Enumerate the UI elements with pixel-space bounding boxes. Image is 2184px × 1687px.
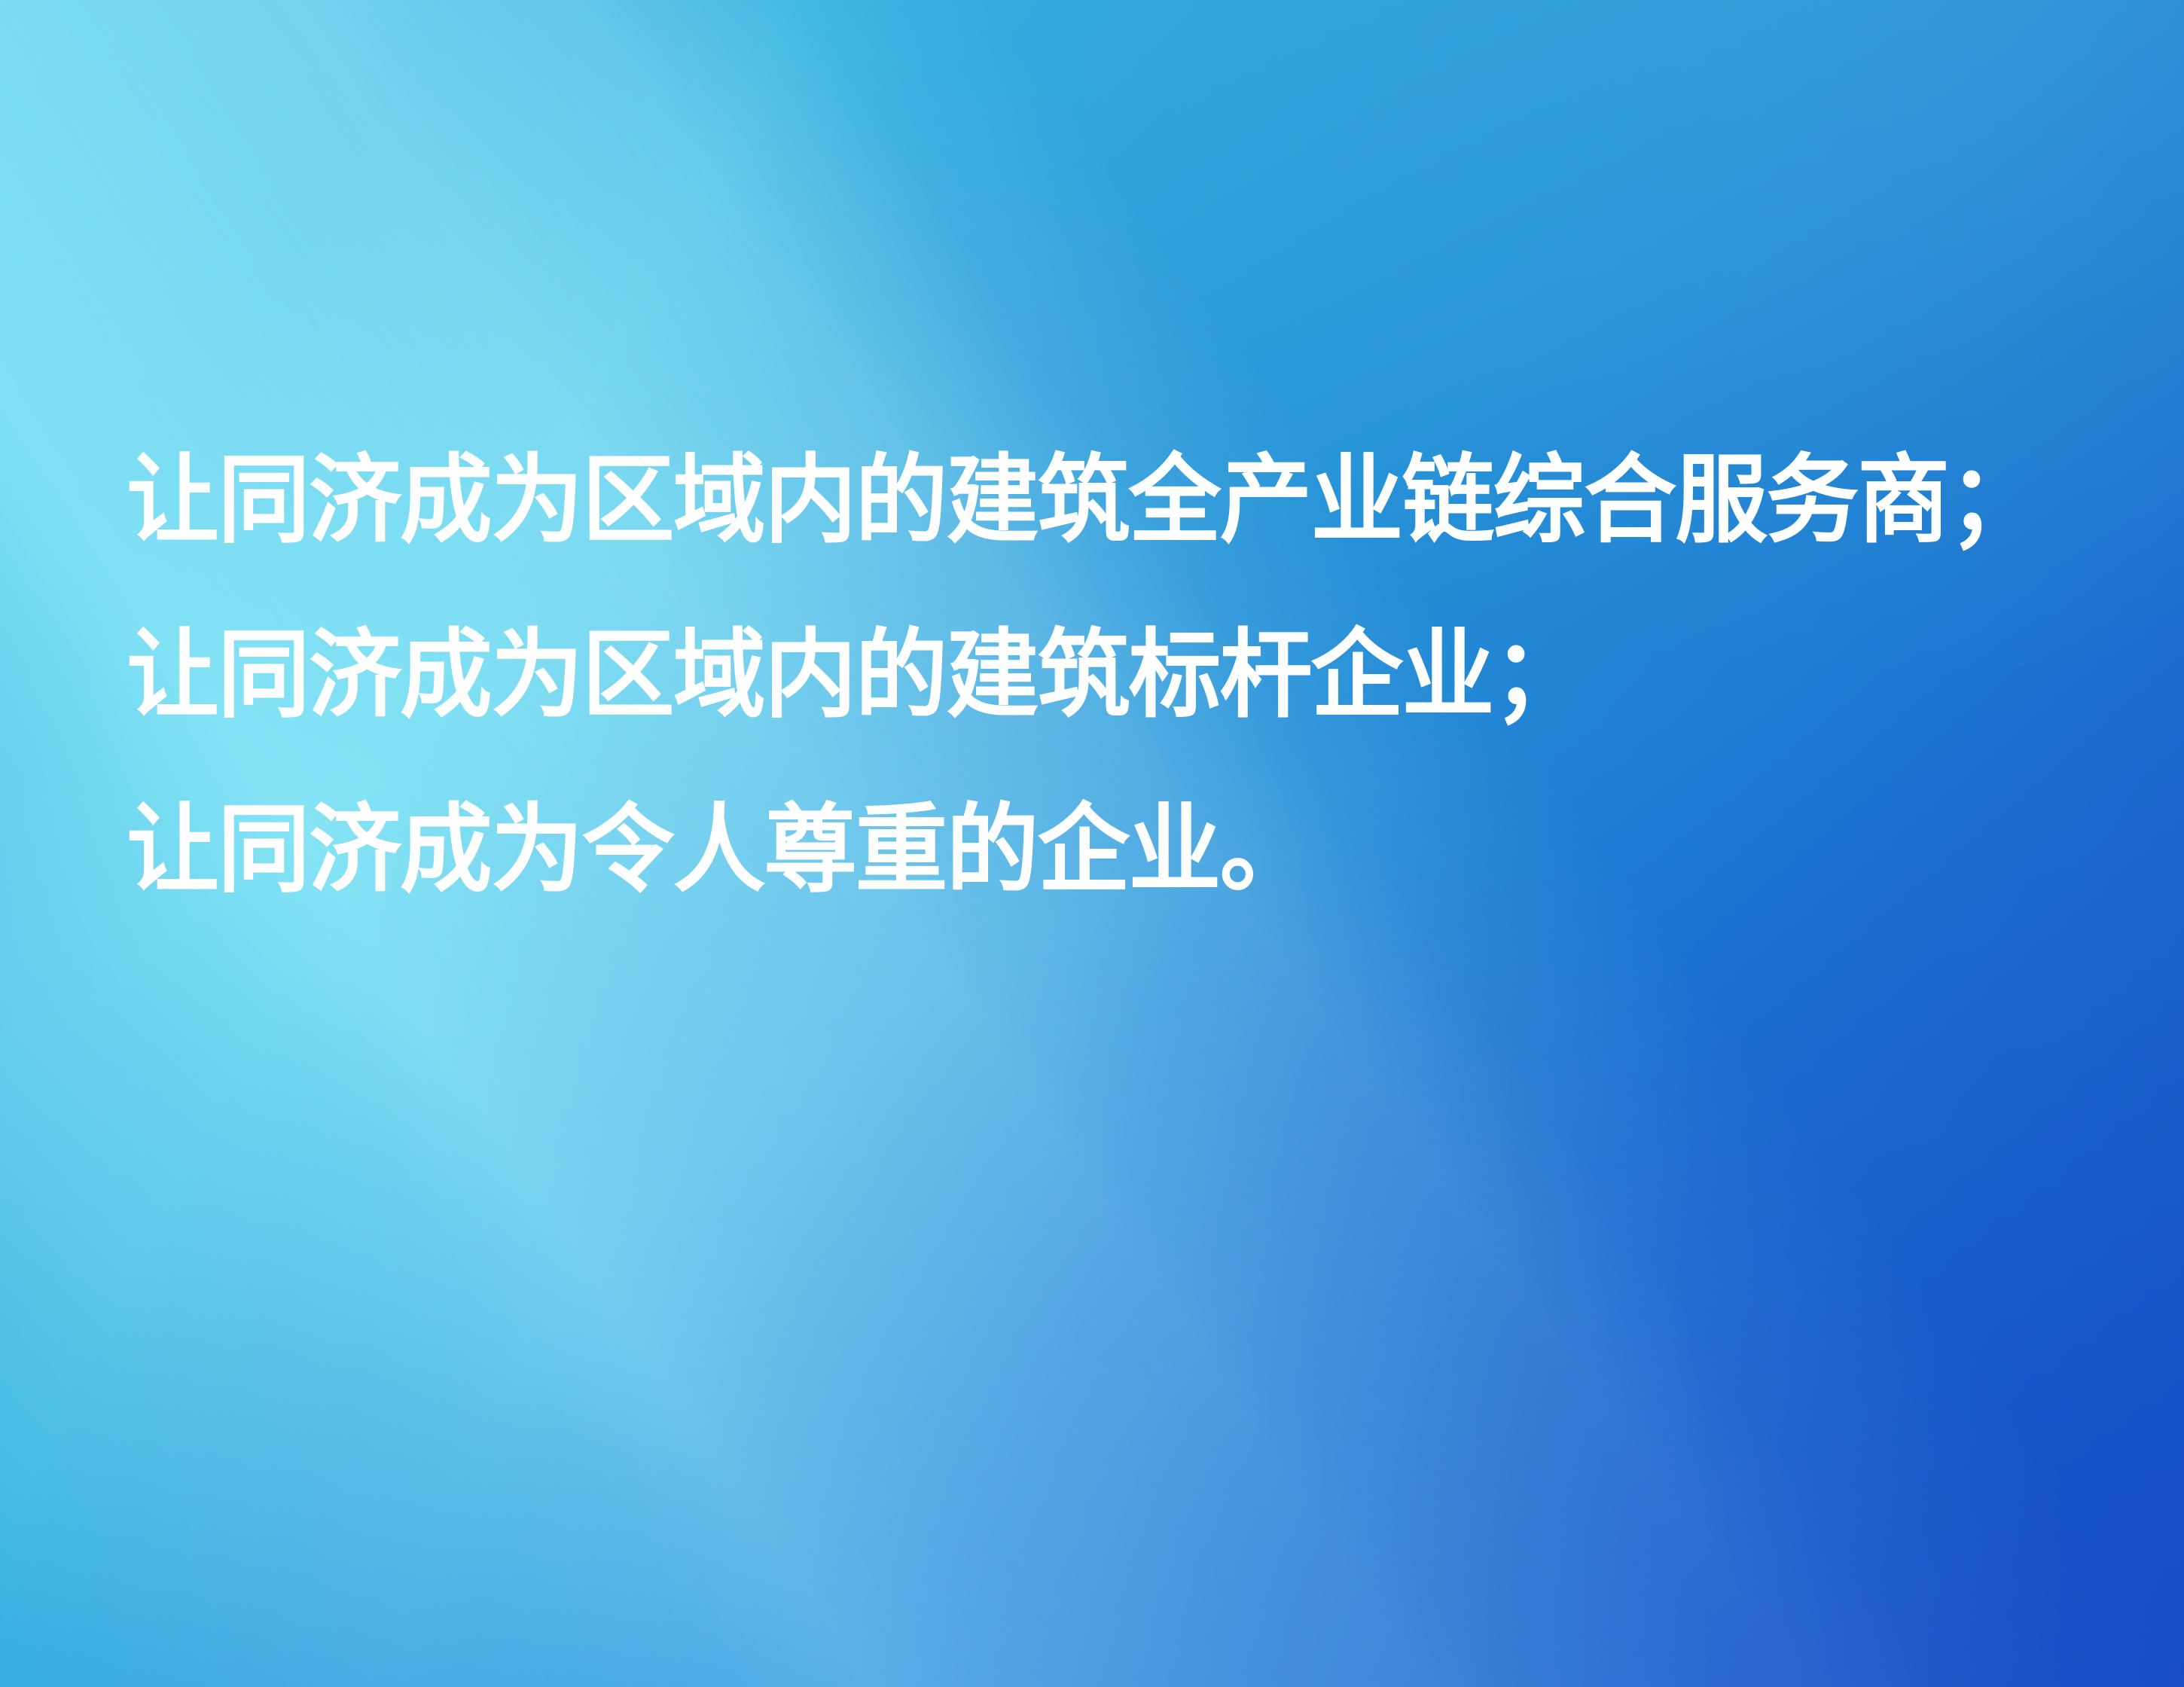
vision-statement-line-2: 让同济成为区域内的建筑标杆企业； <box>127 627 2021 723</box>
vision-statement-line-3: 让同济成为令人尊重的企业。 <box>127 801 2021 898</box>
slide-text-block: 让同济成为区域内的建筑全产业链综合服务商； 让同济成为区域内的建筑标杆企业； 让… <box>127 452 2100 898</box>
vision-statement-line-1: 让同济成为区域内的建筑全产业链综合服务商； <box>127 452 2021 548</box>
presentation-slide: 让同济成为区域内的建筑全产业链综合服务商； 让同济成为区域内的建筑标杆企业； 让… <box>0 0 2184 1687</box>
